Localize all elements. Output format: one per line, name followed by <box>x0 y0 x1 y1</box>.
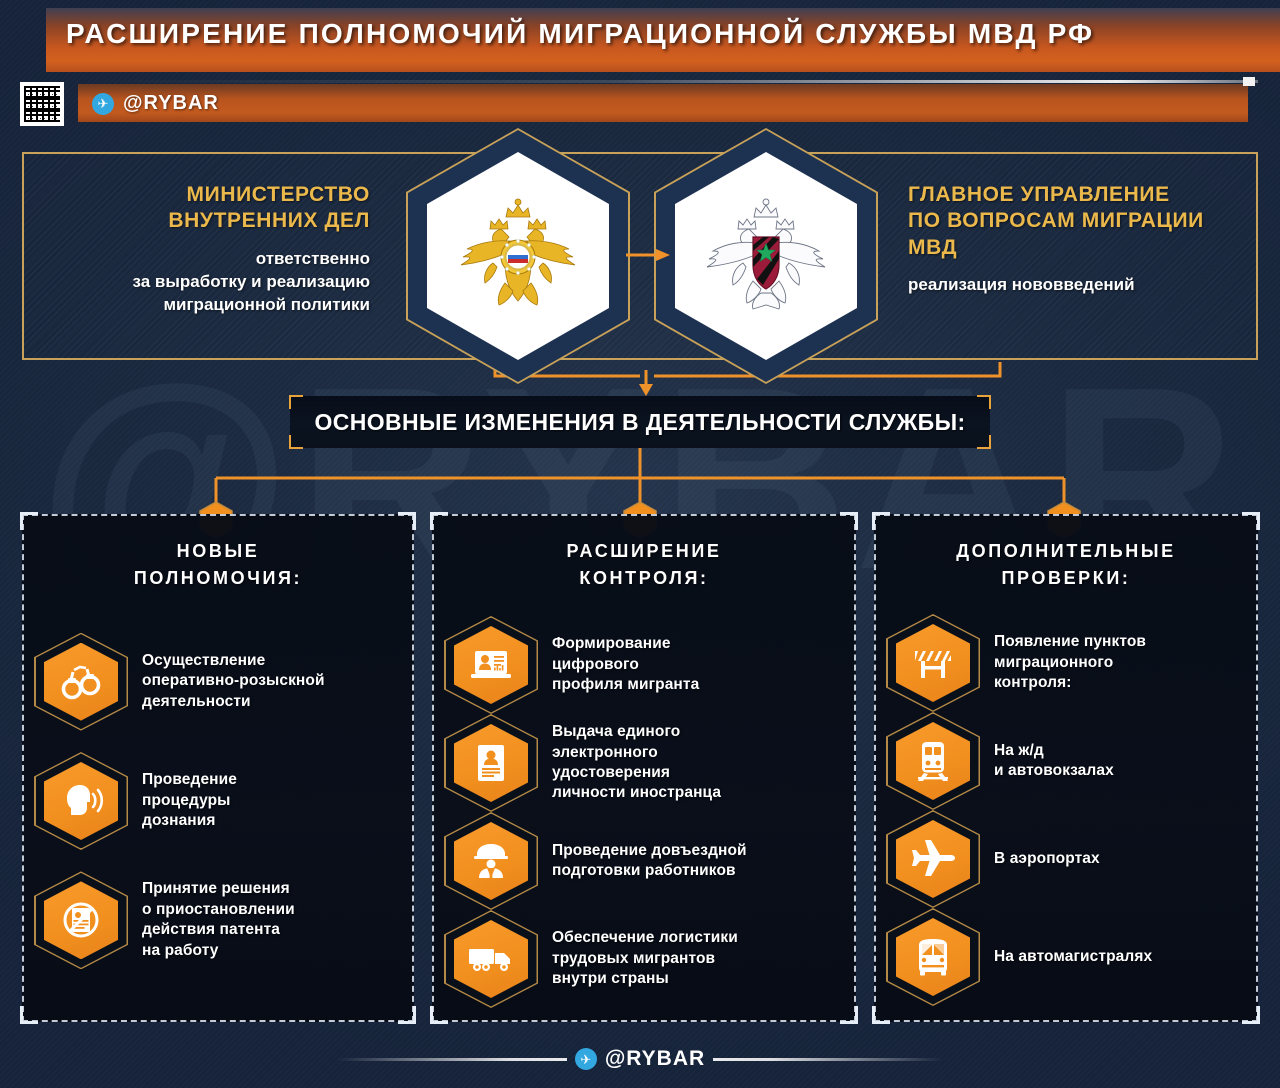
panel-corner-bl <box>430 1006 448 1024</box>
list-item-label: Появление пунктов миграционного контроля… <box>994 632 1146 693</box>
list-item: На автомагистралях <box>886 908 1248 1006</box>
panel-corner-tl <box>430 512 448 530</box>
org-right-block: ГЛАВНОЕ УПРАВЛЕНИЕ ПО ВОПРОСАМ МИГРАЦИИ … <box>908 182 1248 296</box>
panel-corner-tl <box>872 512 890 530</box>
footer-channel-label: @RYBAR <box>605 1047 705 1071</box>
list-item: Принятие решения о приостановлении дейст… <box>34 871 404 969</box>
panel-corner-tr <box>398 512 416 530</box>
list-item-label: Обеспечение логистики трудовых мигрантов… <box>552 928 738 989</box>
footer-channel-bar[interactable]: ✈ @RYBAR <box>0 1042 1280 1076</box>
icon-frame <box>34 871 128 969</box>
column-items: Осуществление оперативно-розыскной деяте… <box>34 612 404 1008</box>
column-items: Формирование цифрового профиля мигранта <box>444 612 846 1008</box>
footer-rule-right <box>713 1058 943 1061</box>
icon-frame <box>886 810 980 908</box>
column-expanded-control: РАСШИРЕНИЕ КОНТРОЛЯ: <box>432 514 856 1022</box>
telegram-icon: ✈ <box>92 93 114 115</box>
banner-corner-br <box>977 435 991 449</box>
list-item: В аэропортах <box>886 810 1248 908</box>
icon-frame <box>886 712 980 810</box>
column-title: ДОПОЛНИТЕЛЬНЫЕ ПРОВЕРКИ: <box>874 538 1258 592</box>
list-item-label: На ж/д и автовокзалах <box>994 741 1114 782</box>
banner-corner-tr <box>977 395 991 409</box>
org-right-subtitle: реализация нововведений <box>908 273 1248 296</box>
panel-corner-br <box>840 1006 858 1024</box>
icon-frame <box>444 910 538 1008</box>
org-left-block: МИНИСТЕРСТВО ВНУТРЕННИХ ДЕЛ ответственно… <box>70 182 370 317</box>
list-item-label: Осуществление оперативно-розыскной деяте… <box>142 651 325 712</box>
icon-frame <box>34 752 128 850</box>
list-item-label: Проведение процедуры дознания <box>142 770 237 831</box>
header-channel-handle[interactable]: ✈ @RYBAR <box>92 92 219 115</box>
telegram-icon: ✈ <box>575 1048 597 1070</box>
column-new-powers: НОВЫЕ ПОЛНОМОЧИЯ: <box>22 514 414 1022</box>
panel-corner-br <box>398 1006 416 1024</box>
icon-frame <box>444 616 538 714</box>
panel-corner-br <box>1242 1006 1260 1024</box>
list-item-label: На автомагистралях <box>994 947 1152 967</box>
footer-rule-left <box>337 1058 567 1061</box>
guvm-eagle-icon <box>701 197 831 315</box>
list-item: Выдача единого электронного удостоверени… <box>444 714 846 812</box>
org-left-subtitle: ответственно за выработку и реализацию м… <box>70 247 370 317</box>
icon-frame <box>444 812 538 910</box>
icon-frame <box>444 714 538 812</box>
column-title: РАСШИРЕНИЕ КОНТРОЛЯ: <box>432 538 856 592</box>
panel-corner-bl <box>20 1006 38 1024</box>
list-item: На ж/д и автовокзалах <box>886 712 1248 810</box>
right-arrow-icon <box>626 247 670 263</box>
infographic-root: @RYBAR РАСШИРЕНИЕ ПОЛНОМОЧИЙ МИГРАЦИОННО… <box>0 0 1280 1088</box>
banner-corner-bl <box>289 435 303 449</box>
panel-corner-tl <box>20 512 38 530</box>
list-item: Проведение довъездной подготовки работни… <box>444 812 846 910</box>
column-title: НОВЫЕ ПОЛНОМОЧИЯ: <box>22 538 414 592</box>
mvd-eagle-icon <box>453 197 583 315</box>
banner-corner-tl <box>289 395 303 409</box>
qr-code-pattern <box>24 86 60 122</box>
column-additional-checks: ДОПОЛНИТЕЛЬНЫЕ ПРОВЕРКИ: <box>874 514 1258 1022</box>
header-subbar <box>78 84 1248 122</box>
header-underline-cap <box>1243 77 1255 86</box>
icon-frame <box>34 633 128 731</box>
list-item-label: Выдача единого электронного удостоверени… <box>552 722 721 804</box>
panel-corner-tr <box>1242 512 1260 530</box>
list-item-label: Проведение довъездной подготовки работни… <box>552 841 747 882</box>
page-title: РАСШИРЕНИЕ ПОЛНОМОЧИЙ МИГРАЦИОННОЙ СЛУЖБ… <box>66 18 1246 50</box>
org-left-title: МИНИСТЕРСТВО ВНУТРЕННИХ ДЕЛ <box>70 182 370 235</box>
panel-corner-tr <box>840 512 858 530</box>
column-items: Появление пунктов миграционного контроля… <box>886 612 1248 1008</box>
list-item: Осуществление оперативно-розыскной деяте… <box>34 633 404 731</box>
icon-frame <box>886 908 980 1006</box>
header-channel-label: @RYBAR <box>123 92 219 115</box>
list-item-label: Формирование цифрового профиля мигранта <box>552 634 699 695</box>
list-item: Проведение процедуры дознания <box>34 752 404 850</box>
qr-code-icon <box>20 82 64 126</box>
list-item: Появление пунктов миграционного контроля… <box>886 614 1248 712</box>
list-item: Формирование цифрового профиля мигранта <box>444 616 846 714</box>
panel-corner-bl <box>872 1006 890 1024</box>
header-underline <box>78 80 1258 83</box>
center-banner-label: ОСНОВНЫЕ ИЗМЕНЕНИЯ В ДЕЯТЕЛЬНОСТИ СЛУЖБЫ… <box>314 409 965 436</box>
org-right-title: ГЛАВНОЕ УПРАВЛЕНИЕ ПО ВОПРОСАМ МИГРАЦИИ … <box>908 182 1248 261</box>
list-item-label: В аэропортах <box>994 849 1100 869</box>
icon-frame <box>886 614 980 712</box>
list-item-label: Принятие решения о приостановлении дейст… <box>142 879 295 961</box>
center-banner: ОСНОВНЫЕ ИЗМЕНЕНИЯ В ДЕЯТЕЛЬНОСТИ СЛУЖБЫ… <box>290 396 990 448</box>
list-item: Обеспечение логистики трудовых мигрантов… <box>444 910 846 1008</box>
